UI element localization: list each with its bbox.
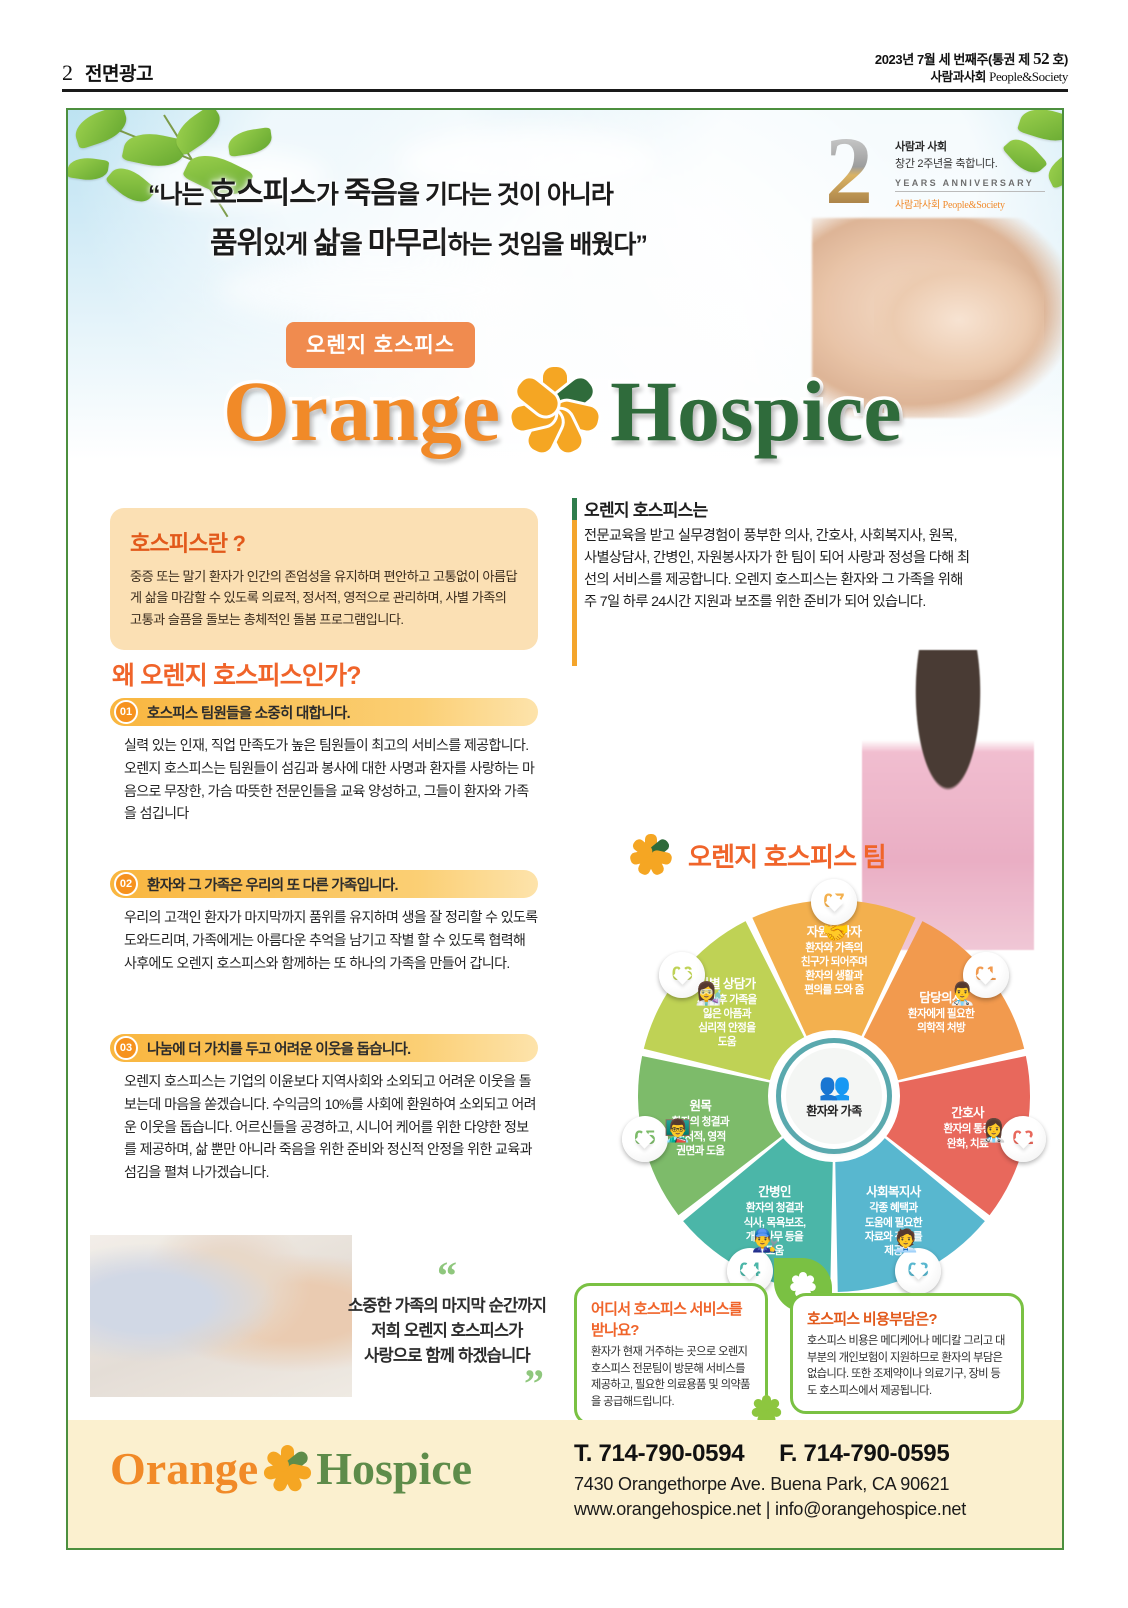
anniversary-line2: 창간 2주년을 축합니다.	[895, 155, 1045, 171]
why-item-01: 01 호스피스 팀원들을 소중히 대합니다. 실력 있는 인재, 직업 만족도가…	[110, 698, 538, 825]
anniversary-line3: YEARS ANNIVERSARY	[895, 178, 1045, 192]
counselor-icon: 👩‍🔬	[695, 983, 722, 1005]
flower-icon	[506, 362, 604, 460]
why-item-number: 03	[114, 1036, 138, 1060]
footer-contact: T. 714-790-0594 F. 714-790-0595 7430 Ora…	[574, 1440, 966, 1520]
intro-title: 오렌지 호스피스는	[584, 496, 972, 521]
advertisement: “나는 호스피스가 죽음을 기다는 것이 아니라 품위있게 삶을 마무리하는 것…	[66, 108, 1064, 1550]
tel-number[interactable]: 714-790-0594	[598, 1440, 744, 1467]
wheel-number-05: 05	[622, 1116, 668, 1162]
chaplain-icon: 👨‍🏫	[664, 1120, 691, 1142]
volunteer-icon: 🤝	[822, 922, 849, 944]
info-box-cost-title: 호스피스 비용부담은?	[807, 1308, 1007, 1329]
masthead-ko: 사람과사회	[931, 70, 987, 84]
fax-number: 714-790-0595	[804, 1440, 950, 1467]
why-item-02: 02 환자와 그 가족은 우리의 또 다른 가족입니다. 우리의 고객인 환자가…	[110, 870, 538, 974]
nurse-icon: 👩‍⚕️	[980, 1120, 1007, 1142]
quote-part: 하는 것임을 배웠다”	[448, 231, 647, 259]
caregiver-icon: 👨‍🔧	[752, 1230, 779, 1252]
why-orange-title: 왜 오렌지 호스피스인가?	[112, 656, 361, 692]
what-is-hospice-box: 호스피스란 ? 중증 또는 말기 환자가 인간의 존엄성을 유지하며 편안하고 …	[110, 508, 538, 650]
anniversary-badge: 2 사람과 사회 창간 2주년을 축합니다. YEARS ANNIVERSARY…	[829, 132, 1044, 227]
info-box-where-body: 환자가 현재 거주하는 곳으로 오렌지호스피스 전문팀이 방문해 서비스를 제공…	[591, 1344, 751, 1410]
intro-body: 전문교육을 받고 실무경험이 풍부한 의사, 간호사, 사회복지사, 원목, 사…	[584, 525, 972, 614]
flower-icon	[628, 832, 674, 878]
anniversary-number: 2	[825, 128, 873, 214]
why-item-body: 실력 있는 인재, 직업 만족도가 높은 팀원들이 최고의 서비스를 제공합니다…	[110, 734, 538, 825]
why-item-number: 02	[114, 872, 138, 896]
header-right: 2023년 7월 세 번째주(통권 제 52 호) 사람과사회 People&S…	[875, 48, 1068, 89]
quote-close-icon: ”	[318, 1370, 544, 1398]
wheel-hub-label: 환자와 가족	[806, 1102, 862, 1119]
issue-date: 2023년 7월 세 번째주(통권 제	[875, 52, 1030, 67]
orange-hospice-logo: Orange Hospice	[223, 362, 902, 460]
footer-logo: Orange Hospice	[110, 1442, 472, 1496]
doctor-icon: 👨‍⚕️	[949, 983, 976, 1005]
ad-footer: Orange Hospice T. 714-790-0594 F. 714-79…	[68, 1420, 1062, 1548]
quote-part: 가	[316, 181, 344, 209]
elderly-couple-photo	[90, 1235, 352, 1397]
wheel-number-03: 03	[895, 1248, 941, 1294]
footer-address: 7430 Orangethorpe Ave. Buena Park, CA 90…	[574, 1474, 966, 1495]
footer-phone-line: T. 714-790-0594 F. 714-790-0595	[574, 1440, 966, 1468]
flower-icon	[260, 1442, 314, 1496]
wheel-hub: 👥 환자와 가족	[781, 1043, 887, 1149]
footer-logo-orange: Orange	[110, 1446, 258, 1492]
family-icon: 👥	[819, 1073, 849, 1099]
why-item-header: 01 호스피스 팀원들을 소중히 대합니다.	[110, 698, 538, 726]
hero-quote: “나는 호스피스가 죽음을 기다는 것이 아니라 품위있게 삶을 마무리하는 것…	[148, 172, 848, 265]
header-left: 2 전면광고	[62, 59, 153, 89]
quote-part: 을 기다는 것이 아니라	[397, 181, 613, 209]
issue-line: 2023년 7월 세 번째주(통권 제 52 호)	[875, 48, 1068, 69]
closing-quote: “ 소중한 가족의 마지막 순간까지 저희 오렌지 호스피스가 사랑으로 함께 …	[318, 1262, 576, 1398]
team-wheel-diagram: 👥 환자와 가족 담당의사환자에게 필요한의학적 처방01간호사환자의 통증완화…	[638, 900, 1030, 1292]
why-item-heading: 환자와 그 가족은 우리의 또 다른 가족입니다.	[147, 874, 398, 895]
quote-part: 을	[340, 231, 368, 259]
info-box-where: 어디서 호스피스 서비스를 받나요? 환자가 현재 거주하는 곳으로 오렌지호스…	[574, 1283, 768, 1425]
why-item-heading: 호스피스 팀원들을 소중히 대합니다.	[147, 702, 350, 723]
orange-hospice-intro: 오렌지 호스피스는 전문교육을 받고 실무경험이 풍부한 의사, 간호사, 사회…	[572, 496, 972, 614]
quote-emphasis: 죽음	[344, 177, 397, 210]
anniversary-brand-en: People&Society	[943, 200, 1005, 211]
why-item-body: 오렌지 호스피스는 기업의 이윤보다 지역사회와 소외되고 어려운 이웃을 돌보…	[110, 1070, 538, 1184]
info-box-cost-body: 호스피스 비용은 메디케어나 메디칼 그리고 대부분의 개인보험이 지원하므로 …	[807, 1333, 1007, 1399]
quote-emphasis: 호스피스	[209, 177, 315, 210]
info-box-cost: 호스피스 비용부담은? 호스피스 비용은 메디케어나 메디칼 그리고 대부분의 …	[790, 1293, 1024, 1414]
fax-label: F.	[779, 1440, 797, 1467]
why-item-body: 우리의 고객인 환자가 마지막까지 품위를 유지하며 생을 잘 정리할 수 있도…	[110, 906, 538, 974]
why-item-header: 03 나눔에 더 가치를 두고 어려운 이웃을 돕습니다.	[110, 1034, 538, 1062]
why-item-03: 03 나눔에 더 가치를 두고 어려운 이웃을 돕습니다. 오렌지 호스피스는 …	[110, 1034, 538, 1184]
quote-emphasis: 삶	[313, 227, 340, 260]
team-section-title: 오렌지 호스피스 팀	[628, 832, 886, 878]
logo-word-orange: Orange	[223, 368, 500, 454]
quote-emphasis: 마무리	[368, 227, 448, 260]
newspaper-page: 2 전면광고 2023년 7월 세 번째주(통권 제 52 호) 사람과사회 P…	[0, 0, 1128, 1608]
wheel-number-07: 07	[811, 879, 857, 925]
team-title-text: 오렌지 호스피스 팀	[688, 837, 886, 874]
masthead-en: People&Society	[989, 69, 1068, 84]
newspaper-header: 2 전면광고 2023년 7월 세 번째주(통권 제 52 호) 사람과사회 P…	[62, 46, 1068, 92]
anniversary-line1: 사람과 사회	[895, 138, 1045, 154]
why-item-header: 02 환자와 그 가족은 우리의 또 다른 가족입니다.	[110, 870, 538, 898]
closing-quote-line1: 소중한 가족의 마지막 순간까지	[318, 1294, 576, 1319]
social-worker-icon: 🧑‍💼	[892, 1230, 919, 1252]
issue-suffix: 호)	[1053, 52, 1069, 67]
quote-emphasis: 품위	[210, 227, 263, 260]
tel-label: T.	[574, 1440, 592, 1467]
section-label: 전면광고	[85, 59, 153, 86]
info-box-where-title: 어디서 호스피스 서비스를 받나요?	[591, 1298, 751, 1340]
closing-quote-line2: 저희 오렌지 호스피스가	[318, 1319, 576, 1344]
page-number: 2	[62, 60, 73, 86]
footer-logo-hospice: Hospice	[316, 1446, 472, 1492]
footer-website[interactable]: www.orangehospice.net | info@orangehospi…	[574, 1499, 966, 1520]
why-item-heading: 나눔에 더 가치를 두고 어려운 이웃을 돕습니다.	[147, 1038, 410, 1059]
what-is-hospice-title: 호스피스란 ?	[130, 526, 518, 558]
quote-part: “나는	[148, 181, 209, 209]
why-item-number: 01	[114, 700, 138, 724]
masthead: 사람과사회 People&Society	[875, 69, 1068, 86]
what-is-hospice-body: 중증 또는 말기 환자가 인간의 존엄성을 유지하며 편안하고 고통없이 아름답…	[130, 566, 518, 630]
issue-number: 52	[1033, 49, 1049, 68]
quote-part: 있게	[263, 231, 313, 259]
quote-open-icon: “	[437, 1253, 457, 1298]
anniversary-brand-ko: 사람과사회	[895, 200, 940, 211]
cloud-shape	[218, 260, 538, 320]
logo-word-hospice: Hospice	[610, 368, 901, 454]
